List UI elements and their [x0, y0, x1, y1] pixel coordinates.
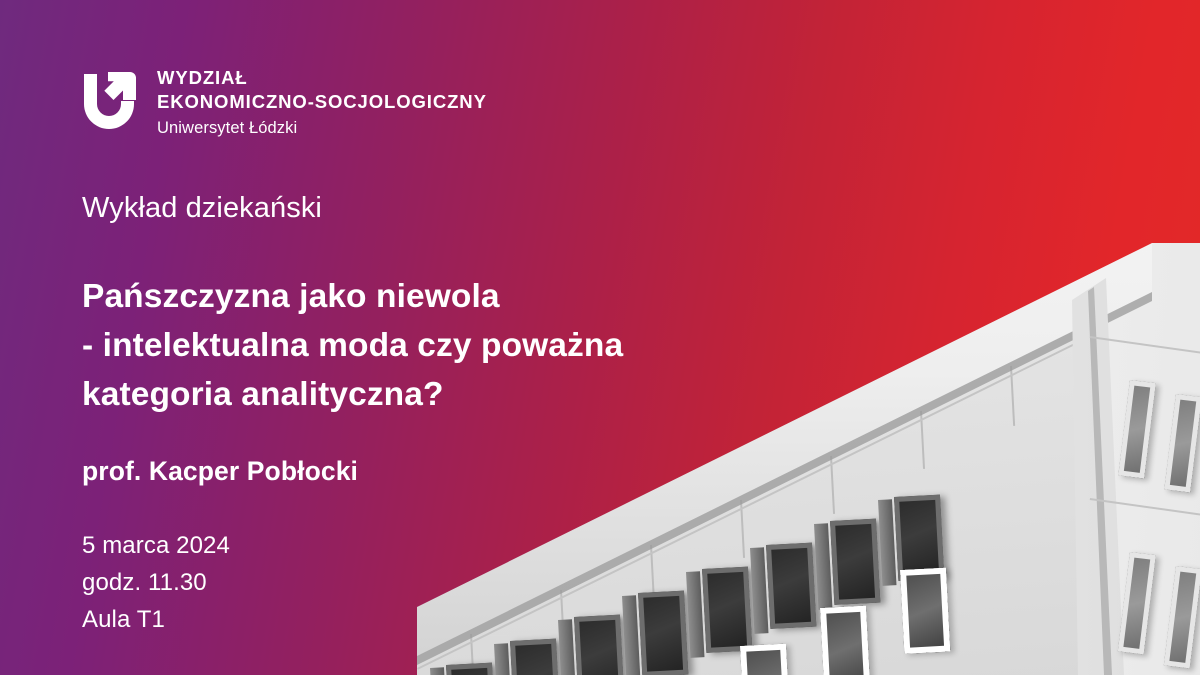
university-logo-text: WYDZIAŁ EKONOMICZNO-SOCJOLOGICZNY Uniwer…	[157, 66, 487, 141]
event-kicker: Wykład dziekański	[82, 192, 322, 225]
event-details: 5 marca 2024 godz. 11.30 Aula T1	[82, 528, 230, 639]
event-poster: WYDZIAŁ EKONOMICZNO-SOCJOLOGICZNY Uniwer…	[0, 0, 1200, 675]
university-logo: WYDZIAŁ EKONOMICZNO-SOCJOLOGICZNY Uniwer…	[78, 66, 487, 141]
poster-content: WYDZIAŁ EKONOMICZNO-SOCJOLOGICZNY Uniwer…	[0, 0, 1200, 675]
lecture-title: Pańszczyzna jako niewola - intelektualna…	[82, 272, 623, 420]
logo-faculty-line1: WYDZIAŁ	[157, 66, 487, 90]
logo-faculty-line2: EKONOMICZNO-SOCJOLOGICZNY	[157, 90, 487, 114]
speaker-name: prof. Kacper Pobłocki	[82, 456, 358, 487]
ul-arrow-u-logo-icon	[78, 68, 140, 135]
logo-university-name: Uniwersytet Łódzki	[157, 116, 487, 141]
